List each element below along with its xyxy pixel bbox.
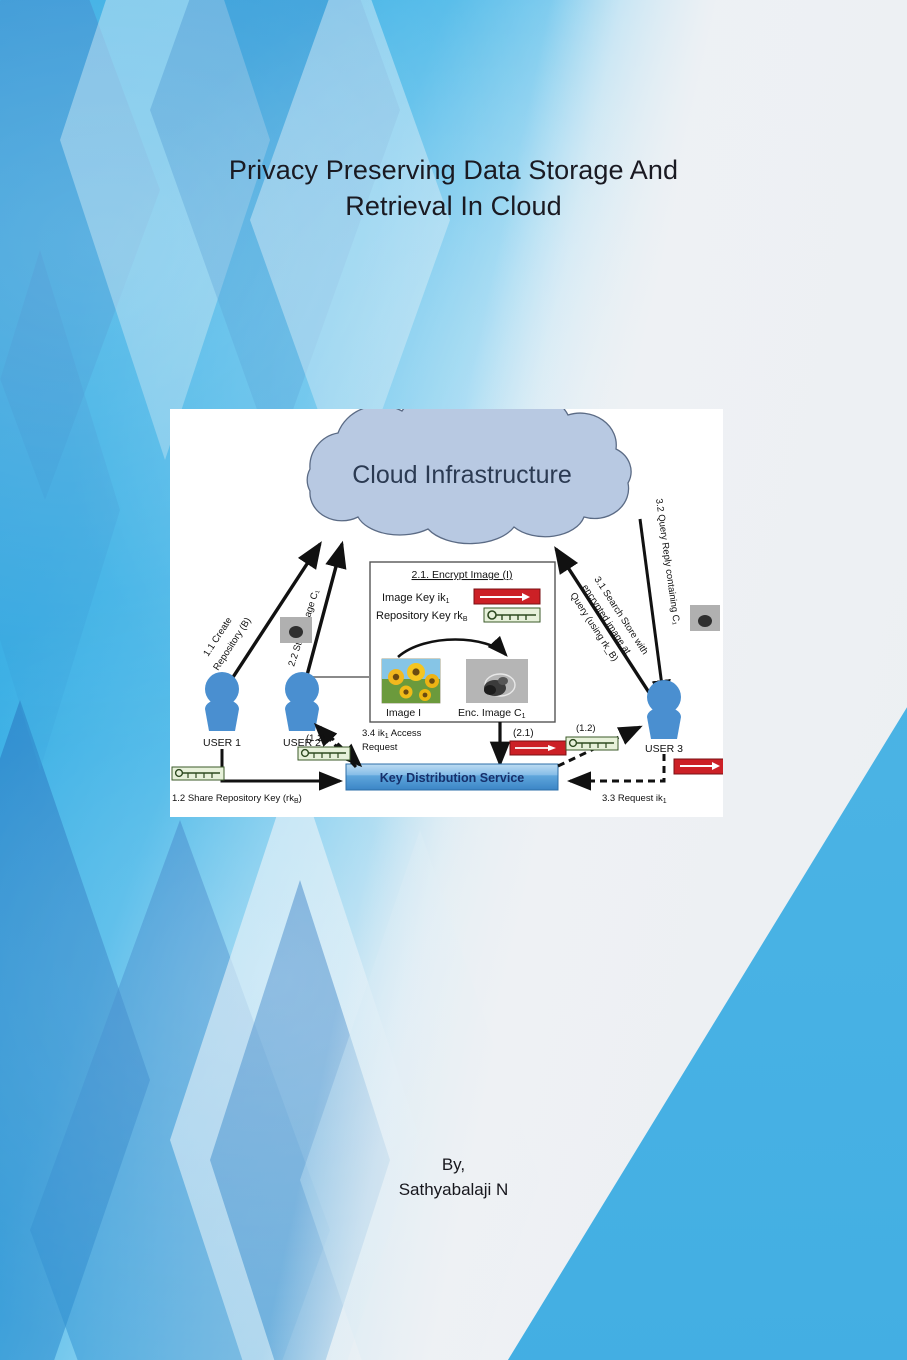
title-line-2: Retrieval In Cloud	[120, 188, 787, 224]
label-2-1: (2.1)	[513, 728, 534, 739]
label-1-2-c: (1.2)	[576, 723, 596, 734]
key-distribution-service-bar[interactable]: Key Distribution Service	[346, 764, 558, 790]
actor-user3: USER 3	[645, 680, 683, 755]
architecture-diagram: Cloud Infrastructure 1.1 Create Reposito…	[170, 409, 723, 817]
author-name: Sathyabalaji N	[0, 1177, 907, 1202]
plain-image-thumbnail	[382, 659, 440, 703]
cloud-label: Cloud Infrastructure	[352, 461, 572, 489]
label-1-2: 1.2 Share Repository Key (rkB)	[172, 793, 302, 805]
image-key-icon	[474, 589, 540, 604]
repository-key-icon	[484, 608, 540, 622]
image-key-label: Image Key ik1	[382, 592, 450, 605]
label-1-2-b: (1.2)	[306, 733, 326, 744]
image-caption: Image I	[386, 707, 421, 719]
kds-label: Key Distribution Service	[380, 771, 525, 785]
user3-key-icon	[566, 737, 618, 750]
label-3-4-a: 3.4 ik1 Access	[362, 728, 422, 740]
cover-title: Privacy Preserving Data Storage And Retr…	[0, 152, 907, 224]
user1-label: USER 1	[203, 737, 241, 749]
title-line-1: Privacy Preserving Data Storage And	[120, 152, 787, 188]
user3-label: USER 3	[645, 743, 683, 755]
device-icon-left	[280, 617, 312, 643]
author-prefix: By,	[0, 1152, 907, 1177]
encrypted-image-caption: Enc. Image C1	[458, 707, 526, 720]
user3-request-key-icon	[674, 759, 723, 774]
encrypted-image-thumbnail	[466, 659, 528, 703]
label-3-3: 3.3 Request ik1	[602, 793, 667, 805]
book-cover: Privacy Preserving Data Storage And Retr…	[0, 0, 907, 1360]
cover-author: By, Sathyabalaji N	[0, 1152, 907, 1202]
user2-key-icon	[298, 747, 350, 760]
actor-user1: USER 1	[203, 672, 241, 749]
repository-key-label: Repository Key rkB	[376, 610, 468, 623]
architecture-diagram-panel: Cloud Infrastructure 1.1 Create Reposito…	[170, 409, 723, 817]
share-key-icon	[172, 767, 224, 780]
device-icon-right	[690, 605, 720, 631]
label-3-4-b: Request	[362, 742, 398, 753]
step-21-key-icon	[510, 741, 566, 755]
encrypt-box-title: 2.1. Encrypt Image (I)	[412, 569, 513, 581]
encrypt-image-box: 2.1. Encrypt Image (I) Image Key ik1 Rep…	[370, 562, 555, 722]
